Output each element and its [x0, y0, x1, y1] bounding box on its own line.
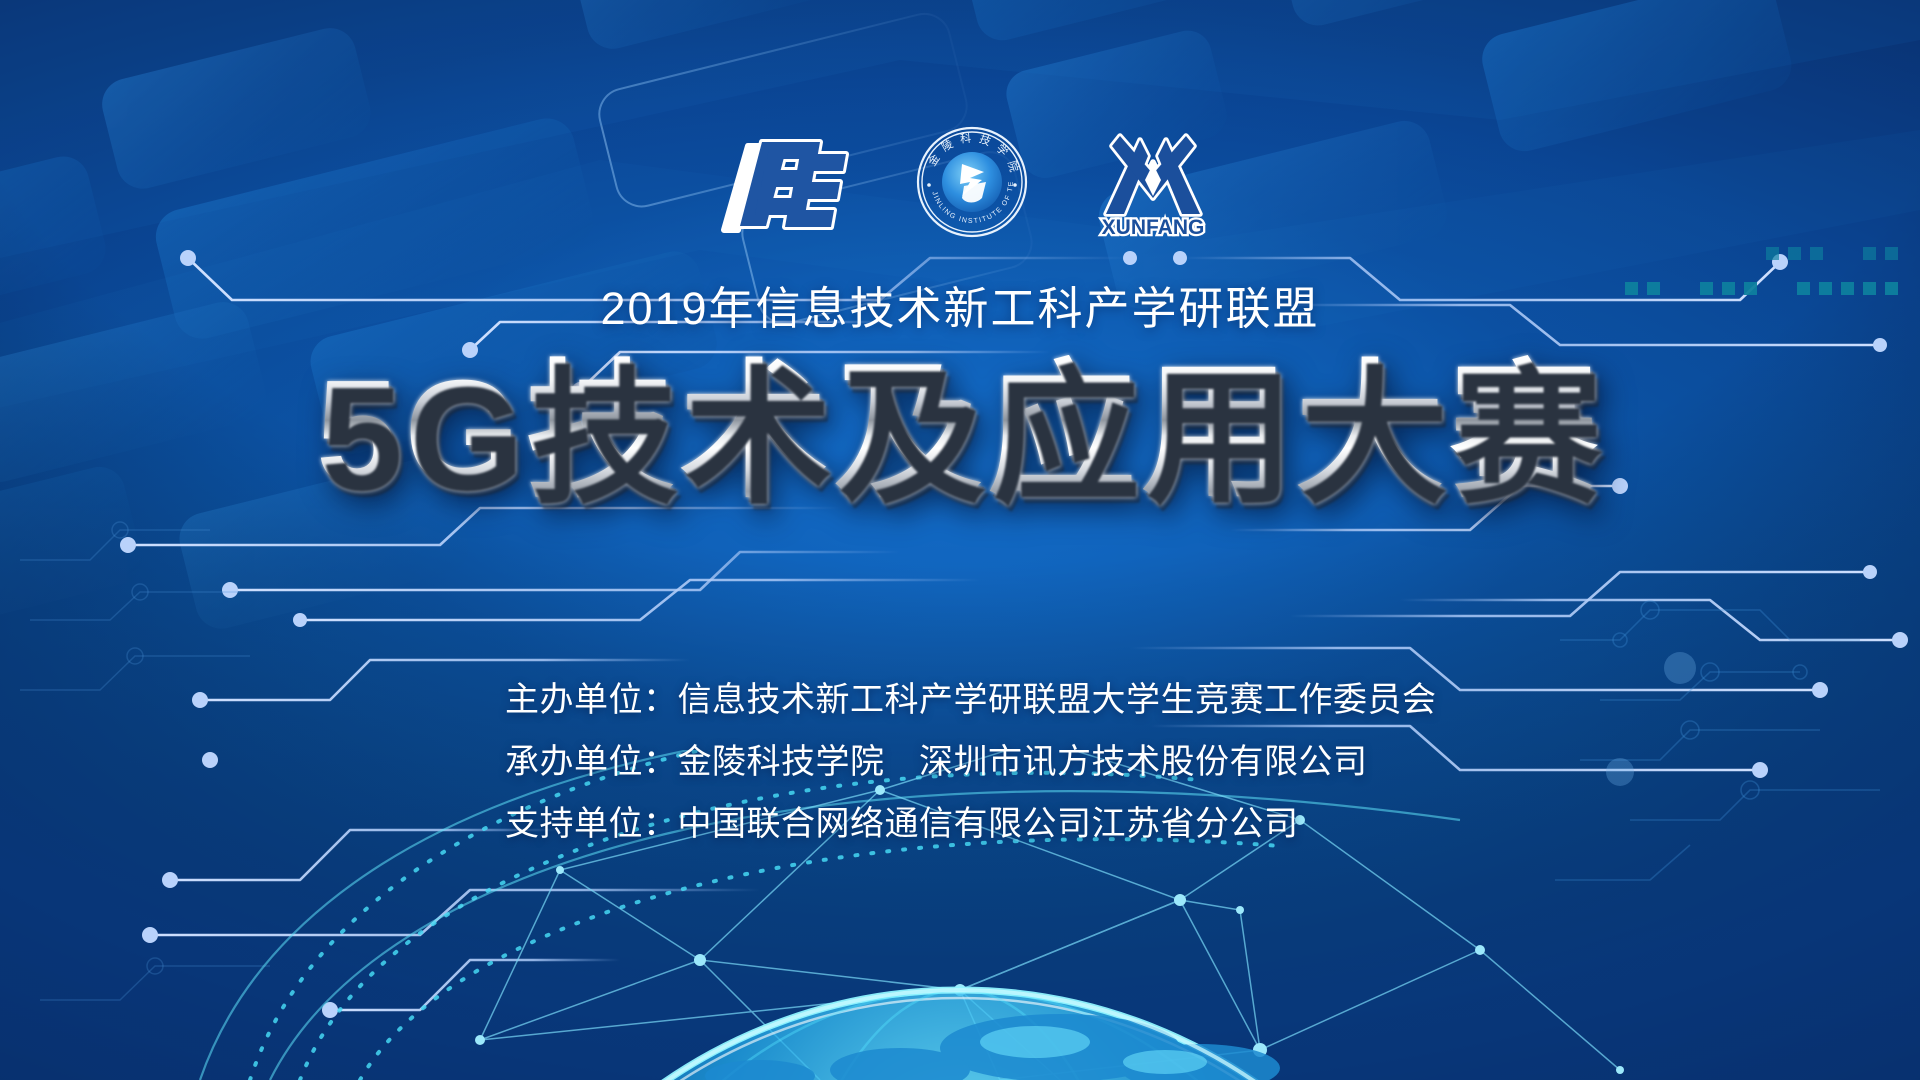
jit-seal-logo: 金陵科技学院 JINLING INSTITUTE OF TECHNOLOGY [916, 126, 1028, 243]
xunfang-logo: XUNFANG [1090, 118, 1216, 243]
main-title: 5G技术及应用大赛 5G技术及应用大赛 [0, 355, 1920, 510]
logo-row: 金陵科技学院 JINLING INSTITUTE OF TECHNOLOGY [0, 118, 1920, 243]
supporter-line: 支持单位：中国联合网络通信有限公司江苏省分公司 [505, 796, 1415, 845]
organization-list: 主办单位：信息技术新工科产学研联盟大学生竞赛工作委员会 承办单位：金陵科技学院 … [0, 672, 1920, 845]
alliance-logo [704, 126, 854, 243]
dash-square-row-top2 [1766, 247, 1898, 260]
main-title-text: 5G技术及应用大赛 [316, 350, 1603, 515]
xunfang-wordmark: XUNFANG [1102, 216, 1205, 238]
poster-canvas: 金陵科技学院 JINLING INSTITUTE OF TECHNOLOGY [0, 0, 1920, 1080]
co-organizer-line: 承办单位：金陵科技学院 深圳市讯方技术股份有限公司 [505, 734, 1415, 783]
organizer-line: 主办单位：信息技术新工科产学研联盟大学生竞赛工作委员会 [505, 672, 1415, 721]
event-subtitle: 2019年信息技术新工科产学研联盟 [0, 272, 1920, 337]
